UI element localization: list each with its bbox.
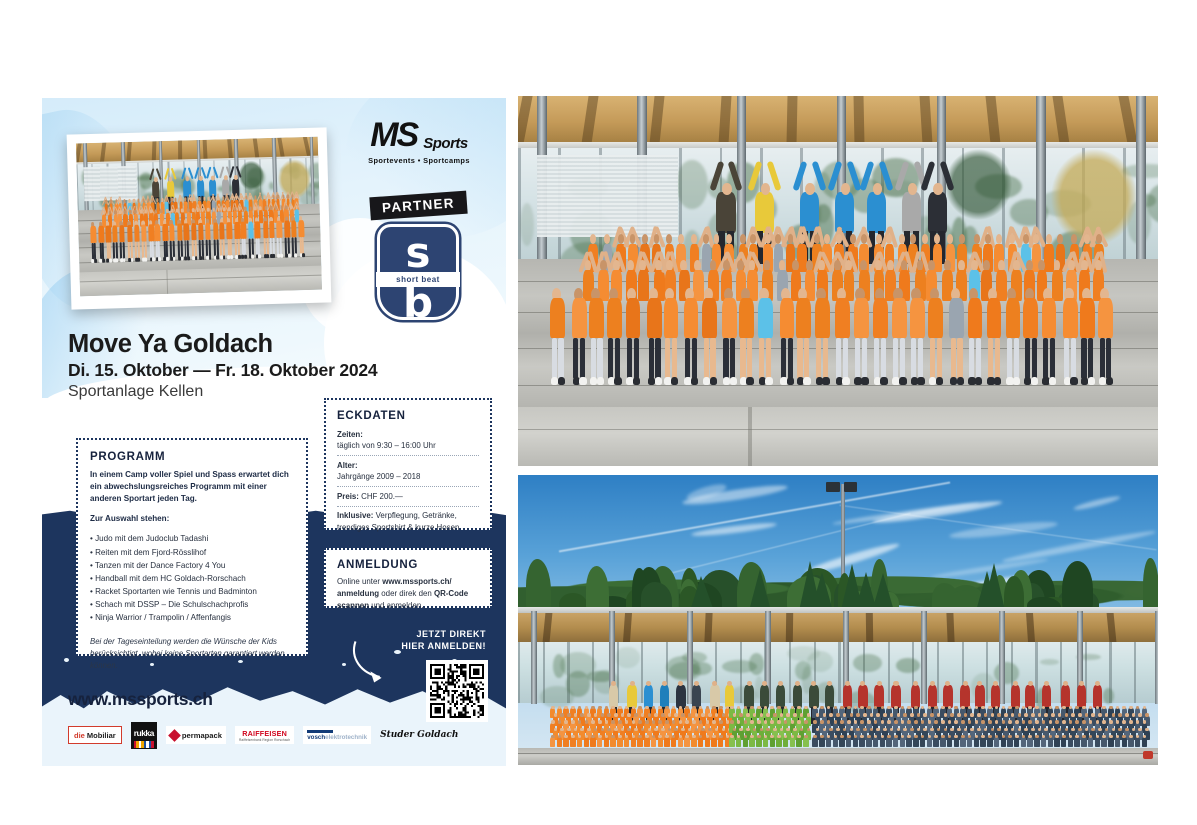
crowd-head — [917, 713, 921, 717]
crowd-kid — [900, 737, 905, 747]
crowd-head — [701, 713, 705, 717]
adult-torso — [755, 192, 774, 233]
kid-shoe — [1106, 377, 1113, 385]
kid-torso — [1098, 298, 1113, 339]
crowd-head — [560, 713, 564, 717]
kid-torso — [550, 298, 565, 339]
programm-subheading: Zur Auswahl stehen: — [90, 514, 294, 523]
kid-leg — [1032, 338, 1037, 379]
crowd-kid — [1128, 737, 1133, 747]
qr-code[interactable] — [426, 660, 488, 722]
adult-head — [1028, 681, 1033, 687]
kid-head — [836, 234, 842, 243]
eckdaten-row: Preis: CHF 200.— — [337, 491, 479, 502]
glass-reflection — [669, 662, 701, 681]
glass-mullion — [838, 642, 840, 703]
eckdaten-label: Zeiten: — [337, 430, 363, 439]
roof-beam — [866, 613, 873, 642]
sb-letter-b: b — [380, 282, 456, 324]
crowd-head — [797, 720, 801, 724]
kid-shoe — [765, 377, 772, 385]
crowd-kid — [1135, 737, 1140, 747]
kid-leg — [937, 338, 942, 379]
crowd-head — [1085, 713, 1089, 717]
programm-item: • Ninja Warrior / Trampolin / Affenfangi… — [90, 611, 294, 624]
kid-leg — [692, 338, 697, 379]
conifer — [976, 571, 998, 611]
crowd-head — [1109, 720, 1113, 724]
crowd-head — [1002, 720, 1006, 724]
crowd-head — [1138, 713, 1142, 717]
kid-shoe — [166, 257, 169, 260]
kid-torso — [119, 225, 125, 242]
qr-call-to-action: JETZT DIREKT HIER ANMELDEN! — [401, 628, 486, 652]
crowd-head — [681, 728, 685, 732]
sponsor-logos: die Mobiliar rukka permapack RAIFFEISEN — [68, 726, 458, 744]
adult-head — [224, 175, 228, 180]
crowd-head — [944, 713, 948, 717]
kid-torso — [854, 298, 869, 339]
crowd-kid — [866, 737, 871, 747]
crowd-head — [621, 713, 625, 717]
kid-shoe — [633, 377, 640, 385]
crowd-head — [719, 720, 723, 724]
glass-mullion — [888, 642, 890, 703]
kid-leg — [823, 338, 828, 379]
crowd-head — [668, 713, 672, 717]
kid-torso — [815, 298, 830, 339]
step-joint — [748, 407, 751, 466]
crowd-head — [551, 735, 555, 739]
adult-head — [185, 176, 189, 181]
kid-torso — [98, 226, 104, 243]
kid-torso — [589, 298, 604, 339]
mobiliar-name: Mobiliar — [87, 731, 116, 740]
kid-leg — [573, 338, 578, 379]
programm-item: • Racket Sportarten wie Tennis und Badmi… — [90, 585, 294, 598]
glass-reflection — [553, 654, 565, 678]
curved-arrow-icon — [348, 634, 404, 690]
programm-note: Bei der Tageseinteilung werden die Wünsc… — [90, 636, 294, 671]
crowd-head — [551, 706, 555, 710]
kid-leg — [759, 338, 764, 379]
crowd-kid — [1142, 737, 1147, 747]
kid-shoe — [842, 377, 849, 385]
kid-head — [922, 234, 928, 243]
crowd-head — [1078, 728, 1082, 732]
event-dates: Di. 15. Oktober — Fr. 18. Oktober 2024 — [68, 360, 398, 381]
crowd-kid — [967, 737, 972, 747]
crowd-head — [1015, 735, 1019, 739]
crowd-head — [961, 720, 965, 724]
crowd-head — [876, 728, 880, 732]
crowd-kid — [624, 737, 629, 747]
kid-torso — [928, 298, 943, 339]
crowd-head — [712, 720, 716, 724]
crowd-head — [770, 720, 774, 724]
crowd-head — [1082, 720, 1086, 724]
kid-shoe — [597, 377, 604, 385]
kid-leg — [911, 338, 916, 379]
adult-figure — [928, 685, 938, 708]
crowd-head — [1118, 713, 1122, 717]
adult-figure — [710, 685, 720, 708]
glass-mullion — [937, 642, 939, 703]
crowd-head — [701, 728, 705, 732]
glass-reflection — [795, 661, 811, 680]
crowd-kid — [776, 737, 781, 747]
kid-shoe — [822, 377, 829, 385]
steps — [518, 748, 1158, 765]
kid-head — [934, 234, 940, 243]
kid-torso — [213, 223, 219, 240]
kid-torso — [112, 226, 118, 243]
kid-head — [618, 234, 624, 243]
kid-head — [996, 234, 1002, 243]
crowd-head — [863, 728, 867, 732]
crowd-head — [1145, 728, 1149, 732]
conifer — [855, 572, 877, 611]
kid-shoe — [216, 256, 219, 259]
crowd-head — [607, 713, 611, 717]
eckdaten-label: Inklusive: — [337, 511, 373, 520]
eckdaten-separator — [337, 486, 479, 487]
kid-leg — [957, 338, 962, 379]
roof-beam — [704, 613, 712, 642]
vosch-name: vosch — [307, 734, 325, 741]
website-url[interactable]: www.mssports.ch — [68, 689, 213, 710]
crowd-head — [571, 720, 575, 724]
kid-torso — [796, 298, 811, 339]
kid-shoe — [280, 254, 283, 257]
kid-leg — [608, 338, 613, 379]
adult-head — [747, 681, 752, 687]
kid-torso — [169, 224, 175, 241]
crowd-kid — [563, 737, 568, 747]
roof-beam — [786, 96, 797, 144]
crowd-head — [598, 720, 602, 724]
kid-torso — [263, 221, 269, 238]
anmeldung-text-2: oder direk den — [379, 589, 434, 598]
kid-shoe — [230, 255, 233, 258]
raiffeisen-name: RAIFFEISEN — [242, 729, 287, 738]
ms-sports-logo: MS Sports Sportevents • Sportcamps — [356, 118, 482, 165]
kid-torso — [1052, 270, 1063, 301]
crowd-kid — [1041, 737, 1046, 747]
crowd-head — [1024, 728, 1028, 732]
crowd-head — [1038, 713, 1042, 717]
red-object — [1143, 751, 1153, 760]
kid-leg — [115, 242, 117, 259]
adult-figure — [776, 685, 786, 708]
crowd-head — [1129, 720, 1133, 724]
adult-figure — [1061, 685, 1071, 708]
kid-leg — [1071, 338, 1076, 379]
kid-head — [947, 234, 953, 243]
crowd-head — [598, 706, 602, 710]
kid-torso — [177, 224, 183, 241]
kid-torso — [572, 298, 587, 339]
crowd-head — [997, 728, 1001, 732]
kid-shoe — [710, 377, 717, 385]
kid-torso — [1080, 298, 1095, 339]
crowd-kid — [839, 737, 844, 747]
kid-torso — [1042, 298, 1057, 339]
adult-torso — [166, 180, 174, 197]
kid-torso — [598, 270, 609, 301]
crowd-head — [804, 720, 808, 724]
kid-head — [691, 234, 697, 243]
crowd-head — [1015, 720, 1019, 724]
crowd-kid — [671, 737, 676, 747]
kid-leg — [976, 338, 981, 379]
kid-shoe — [1049, 377, 1056, 385]
crowd-head — [1071, 728, 1075, 732]
crowd-kid — [846, 737, 851, 747]
kid-torso — [90, 226, 96, 243]
kid-torso — [198, 223, 204, 240]
crowd-kid — [1027, 737, 1032, 747]
kid-head — [788, 234, 794, 243]
crowd-head — [876, 713, 880, 717]
crowd-head — [856, 713, 860, 717]
kid-shoe — [94, 259, 97, 262]
crowd-head — [1062, 735, 1066, 739]
crowd-head — [587, 728, 591, 732]
kid-head — [1096, 234, 1102, 243]
crowd-head — [695, 713, 699, 717]
kid-shoe — [803, 377, 810, 385]
page-canvas: MS Sports Sportevents • Sportcamps PARTN… — [0, 0, 1197, 825]
crowd-head — [897, 713, 901, 717]
crowd-head — [847, 706, 851, 710]
crowd-head — [1004, 728, 1008, 732]
glass-reflection — [896, 658, 920, 673]
crowd-head — [719, 735, 723, 739]
adult-figure — [660, 685, 670, 708]
glass-mullion — [518, 642, 520, 703]
kid-leg — [766, 338, 771, 379]
adult-torso — [928, 192, 947, 233]
crowd-head — [645, 720, 649, 724]
crowd-head — [881, 720, 885, 724]
crowd-head — [634, 728, 638, 732]
logo-ms-text: MS — [370, 118, 417, 152]
crowd-head — [773, 728, 777, 732]
crowd-head — [750, 720, 754, 724]
crowd-kid — [1068, 737, 1073, 747]
crowd-kid — [783, 737, 788, 747]
photo-wide-sports-facility — [518, 475, 1158, 765]
crowd-head — [674, 713, 678, 717]
pillar — [1155, 611, 1158, 704]
crowd-head — [903, 713, 907, 717]
crowd-head — [1098, 728, 1102, 732]
kid-head — [775, 234, 781, 243]
crowd-kid — [913, 737, 918, 747]
kid-head — [824, 234, 830, 243]
crowd-kid — [994, 737, 999, 747]
crowd-head — [730, 720, 734, 724]
short-beat-logo: s short beat b — [377, 224, 459, 320]
crowd-kid — [833, 737, 838, 747]
crowd-kid — [1108, 737, 1113, 747]
crowd-head — [715, 713, 719, 717]
event-flyer: MS Sports Sportevents • Sportcamps PARTN… — [42, 98, 506, 766]
crowd-head — [708, 728, 712, 732]
kid-shoe — [1088, 377, 1095, 385]
permapack-name: permapack — [182, 731, 222, 740]
crowd-head — [883, 728, 887, 732]
crowd-head — [843, 713, 847, 717]
kid-leg — [797, 338, 802, 379]
kid-shoe — [671, 377, 678, 385]
kid-leg — [665, 338, 670, 379]
crowd-kid — [577, 737, 582, 747]
crowd-head — [719, 706, 723, 710]
kid-leg — [672, 338, 677, 379]
crowd-kid — [664, 737, 669, 747]
kid-torso — [105, 226, 111, 243]
crowd-head — [1008, 720, 1012, 724]
photo-group-orange-shirts — [518, 96, 1158, 466]
glass-reflection — [682, 652, 706, 664]
programm-item: • Schach mit DSSP – Die Schulschachprofi… — [90, 598, 294, 611]
crowd-head — [957, 713, 961, 717]
kid-leg — [580, 338, 585, 379]
adult-figure — [793, 685, 803, 708]
kid-shoe — [1013, 377, 1020, 385]
eckdaten-separator — [337, 455, 479, 456]
programm-item: • Tanzen mit der Dance Factory 4 You — [90, 559, 294, 572]
kid-leg — [918, 338, 923, 379]
crowd-head — [567, 728, 571, 732]
crowd-kid — [684, 737, 689, 747]
crowd-head — [930, 728, 934, 732]
roof-beam — [785, 613, 792, 642]
crowd-head — [1062, 706, 1066, 710]
greenery-reflection — [136, 175, 156, 180]
glass-mullion — [1134, 642, 1136, 703]
crowd-head — [1055, 720, 1059, 724]
eckdaten-heading: ECKDATEN — [337, 410, 479, 422]
kid-leg — [272, 238, 274, 255]
crowd-head — [964, 713, 968, 717]
kid-head — [899, 234, 905, 243]
kid-torso — [269, 221, 275, 238]
eckdaten-value: CHF 200.— — [361, 492, 403, 501]
adult-figure — [825, 685, 835, 708]
crowd-head — [708, 713, 712, 717]
kid-shoe — [202, 256, 205, 259]
eckdaten-value: Jahrgänge 2009 – 2018 — [337, 472, 420, 481]
crowd-kid — [1007, 737, 1012, 747]
kid-leg — [788, 338, 793, 379]
kid-shoe — [1070, 377, 1077, 385]
kid-leg — [649, 338, 654, 379]
crowd-head — [1132, 713, 1136, 717]
kid-leg — [280, 238, 282, 255]
crowd-head — [1018, 713, 1022, 717]
kid-leg — [740, 338, 745, 379]
crowd-head — [975, 720, 979, 724]
adult-head — [877, 681, 882, 687]
crowd-head — [760, 713, 764, 717]
crowd-head — [564, 720, 568, 724]
crowd-kid — [617, 737, 622, 747]
kid-shoe — [258, 255, 261, 258]
kid-shoe — [152, 258, 155, 261]
kid-torso — [626, 298, 641, 339]
crowd-kid — [604, 737, 609, 747]
crowd-head — [1118, 728, 1122, 732]
adult-figure — [725, 685, 735, 708]
adult-head — [841, 183, 851, 195]
adult-head — [234, 175, 238, 180]
crowd-head — [780, 713, 784, 717]
kid-leg — [1007, 338, 1012, 379]
sb-letter-s: s — [380, 233, 456, 273]
crowd-head — [807, 713, 811, 717]
crowd-head — [757, 720, 761, 724]
kid-torso — [240, 222, 246, 239]
adult-figure — [1093, 685, 1103, 708]
studer-name: Studer Goldach — [380, 730, 458, 740]
pillar — [1136, 96, 1146, 266]
sponsor-logo-permapack: permapack — [166, 726, 226, 744]
kid-torso — [780, 298, 795, 339]
adult-torso — [716, 192, 735, 233]
kid-leg — [1081, 338, 1086, 379]
crowd-head — [1011, 713, 1015, 717]
kid-shoe — [102, 259, 105, 262]
kid-shoe — [917, 377, 924, 385]
kid-torso — [996, 270, 1007, 301]
glass-reflection — [853, 654, 882, 673]
sponsor-logo-raiffeisen: RAIFFEISEN Raiffeisenbank Region Rorscha… — [235, 726, 294, 744]
kid-leg — [747, 338, 752, 379]
crowd-head — [950, 713, 954, 717]
crowd-head — [706, 720, 710, 724]
crowd-head — [970, 713, 974, 717]
kid-head — [985, 234, 991, 243]
kid-leg — [195, 240, 197, 257]
adult-figure — [1011, 685, 1021, 708]
eckdaten-label: Alter: — [337, 461, 358, 470]
kid-leg — [1043, 338, 1048, 379]
crowd-head — [1044, 728, 1048, 732]
kid-torso — [155, 224, 161, 241]
crowd-head — [1031, 713, 1035, 717]
crowd-head — [829, 713, 833, 717]
adult-figure — [891, 685, 901, 708]
kid-torso — [254, 222, 260, 239]
kid-shoe — [187, 257, 190, 260]
crowd-head — [648, 713, 652, 717]
crowd-head — [1062, 720, 1066, 724]
kid-shoe — [288, 254, 291, 257]
crowd-head — [661, 713, 665, 717]
kid-leg — [1014, 338, 1019, 379]
crowd-kid — [743, 737, 748, 747]
crowd-head — [1098, 713, 1102, 717]
crowd-head — [1051, 728, 1055, 732]
crowd-head — [1112, 713, 1116, 717]
crowd-kid — [1074, 737, 1079, 747]
crowd-head — [1125, 713, 1129, 717]
crowd-head — [930, 713, 934, 717]
adult-head — [893, 681, 898, 687]
